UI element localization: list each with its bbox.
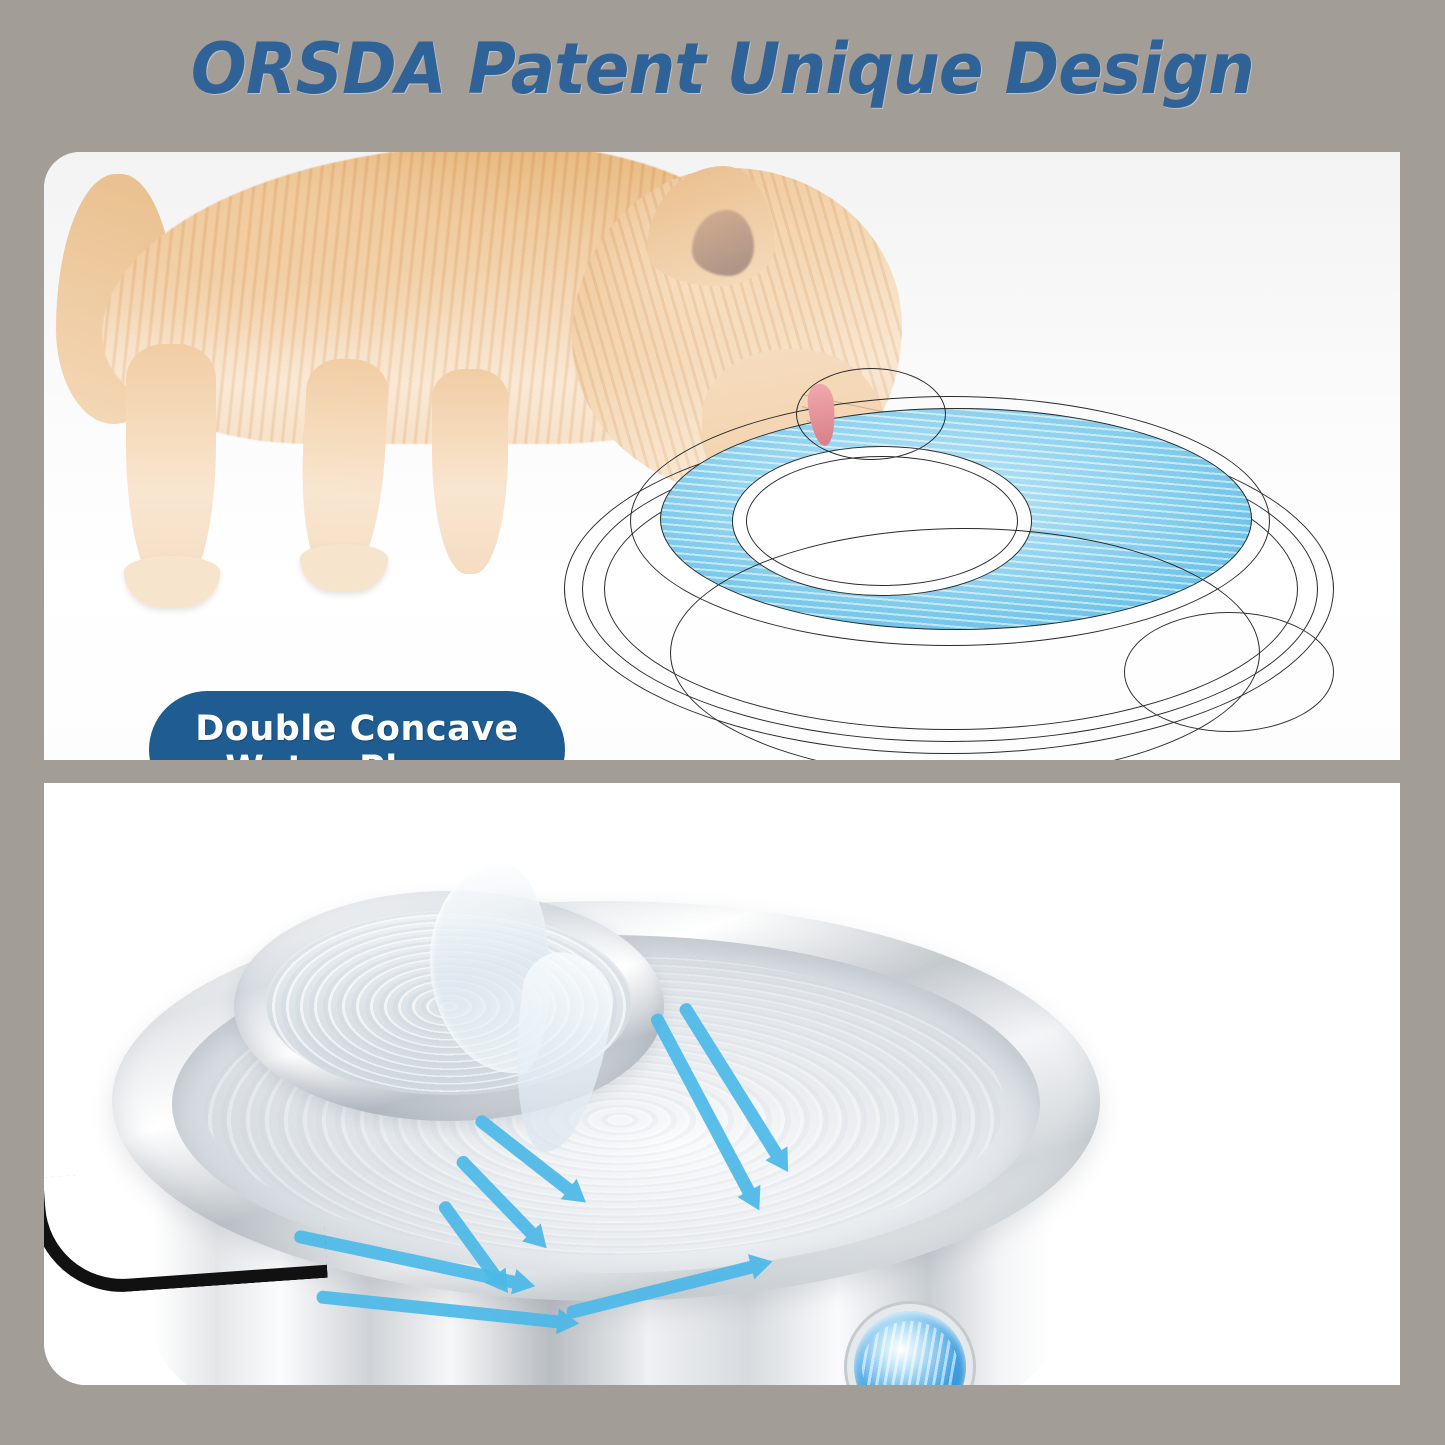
page-title-container: ORSDA Patent Unique Design: [0, 24, 1445, 114]
page-title: ORSDA Patent Unique Design: [191, 28, 1254, 110]
power-cord: [44, 1158, 328, 1298]
feature-panel-double-slopes: Double slopes Licking enough Oxygen-enri…: [44, 783, 1400, 1385]
badge-double-concave: Double Concave Water Places: [149, 691, 565, 760]
badge-line-1: Double Concave: [195, 710, 519, 749]
cat-leg-rear: [432, 369, 508, 574]
steel-fountain-scene: [44, 783, 1400, 1385]
badge-line-2: Water Places: [225, 750, 488, 761]
fountain-line-art: [564, 362, 1384, 760]
cat-drinking-scene: [44, 152, 1400, 760]
cat-paw-left: [124, 556, 220, 608]
feature-panel-double-concave: Double Concave Water Places Good for ton…: [44, 152, 1400, 760]
cat-paw-right: [300, 544, 388, 592]
fountain-base-rim: [670, 528, 1260, 760]
